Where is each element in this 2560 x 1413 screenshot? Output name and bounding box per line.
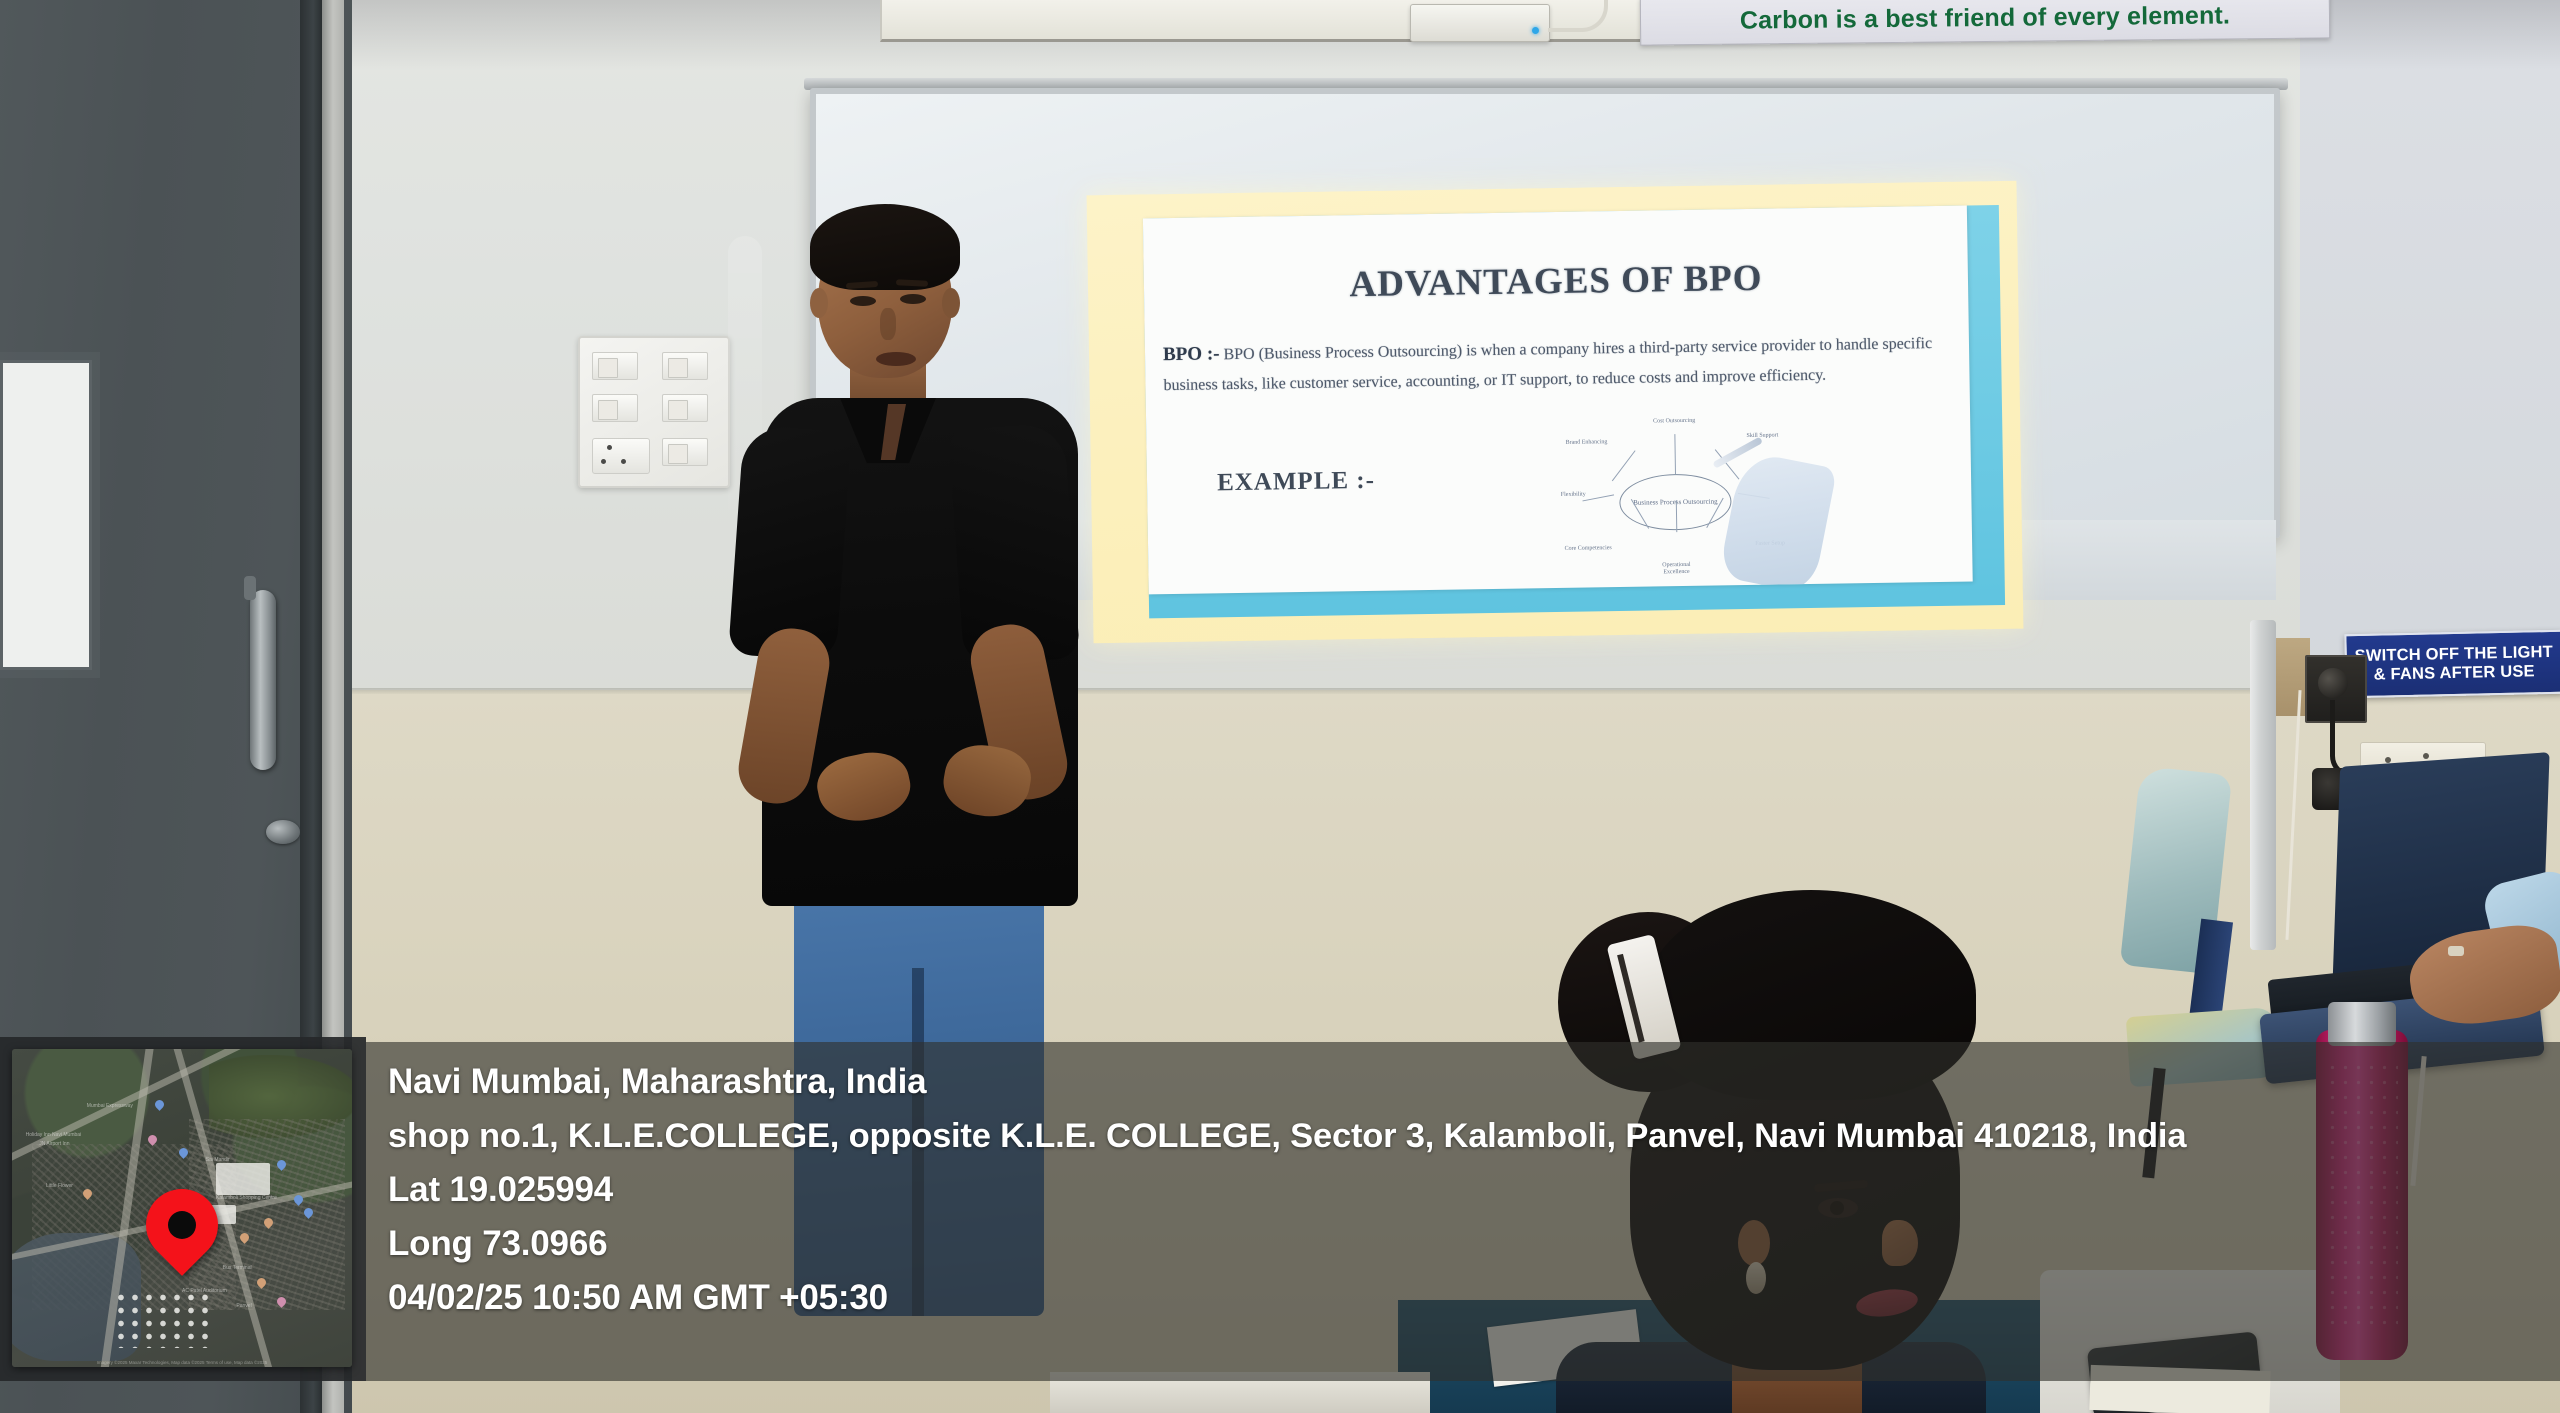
door-gap <box>322 0 344 1413</box>
banner-text: Carbon is a best friend of every element… <box>1740 1 2231 35</box>
wall-socket[interactable] <box>592 438 650 474</box>
slide-diagram: Business Process Outsourcing Cost Outsou… <box>1546 414 1799 583</box>
diagram-spoke <box>1674 434 1676 474</box>
seated-person <box>1470 890 2110 1413</box>
sign-line-2: & FANS AFTER USE <box>2373 662 2535 684</box>
diagram-node: Flexibility <box>1547 491 1599 499</box>
door-jamb <box>300 0 322 1413</box>
presenter-eye-left <box>850 296 876 306</box>
classroom-banner: Carbon is a best friend of every element… <box>1640 0 2330 46</box>
presenter-nose <box>880 308 896 340</box>
bottle-cap <box>2328 1002 2396 1046</box>
door-vision-panel <box>0 360 92 670</box>
diagram-node: Cost Outsourcing <box>1648 418 1700 426</box>
paper-sheet <box>2089 1365 2270 1413</box>
router-led-icon <box>1532 27 1539 34</box>
switch-off-sign: SWITCH OFF THE LIGHT & FANS AFTER USE <box>2344 630 2560 699</box>
slide-hand-illustration <box>1718 450 1837 594</box>
classroom-door[interactable] <box>0 0 352 1413</box>
diagram-node: Operational Excellence <box>1650 562 1702 577</box>
presenter-sleeve-left <box>728 425 852 662</box>
slide-body-paragraph: BPO (Business Process Outsourcing) is wh… <box>1163 335 1932 394</box>
slide-inner-band: ADVANTAGES OF BPO BPO :- BPO (Business P… <box>1143 205 2005 618</box>
photograph: Carbon is a best friend of every element… <box>0 0 2560 1413</box>
desk-white-front <box>1050 1372 1430 1413</box>
slide-title: ADVANTAGES OF BPO <box>1144 254 1969 310</box>
door-lock-icon[interactable] <box>266 820 300 844</box>
wall-right-strip <box>2300 0 2560 700</box>
person-hair-bun <box>1646 890 1976 1100</box>
presenter-hair <box>810 204 960 290</box>
wall-switch[interactable] <box>592 394 638 422</box>
person-eye <box>1818 1198 1858 1218</box>
slide-page: ADVANTAGES OF BPO BPO :- BPO (Business P… <box>1143 206 1973 595</box>
diagram-spoke <box>1612 450 1636 481</box>
earring <box>1746 1262 1766 1294</box>
presenter-jeans <box>794 876 1044 1316</box>
finger-ring <box>2448 946 2464 956</box>
diagram-node: Core Competencies <box>1562 545 1614 553</box>
presenter-ear-left <box>810 288 828 318</box>
presenter-person <box>700 176 1160 1316</box>
projected-slide: ADVANTAGES OF BPO BPO :- BPO (Business P… <box>1087 181 2024 644</box>
presenter-ear-right <box>942 288 960 318</box>
person-ear <box>1738 1220 1770 1266</box>
slide-body-text: BPO :- BPO (Business Process Outsourcing… <box>1163 328 1954 401</box>
slide-body-lead: BPO :- <box>1163 343 1220 365</box>
wall-switch[interactable] <box>592 352 638 380</box>
wall-seam-line <box>340 688 2560 694</box>
presenter-eye-right <box>900 294 926 304</box>
chair-seat <box>2126 1007 2281 1087</box>
presenter-mouth <box>876 352 916 366</box>
person-nose <box>1882 1220 1918 1266</box>
diagram-node: Skill Support <box>1736 432 1788 440</box>
diagram-node: Brand Enhancing <box>1560 439 1612 447</box>
bottle-texture <box>2326 1060 2398 1330</box>
wifi-router-device <box>1410 4 1550 42</box>
power-plug <box>2318 668 2348 698</box>
slide-example-label: EXAMPLE :- <box>1217 467 1375 497</box>
door-handle[interactable] <box>250 590 276 770</box>
